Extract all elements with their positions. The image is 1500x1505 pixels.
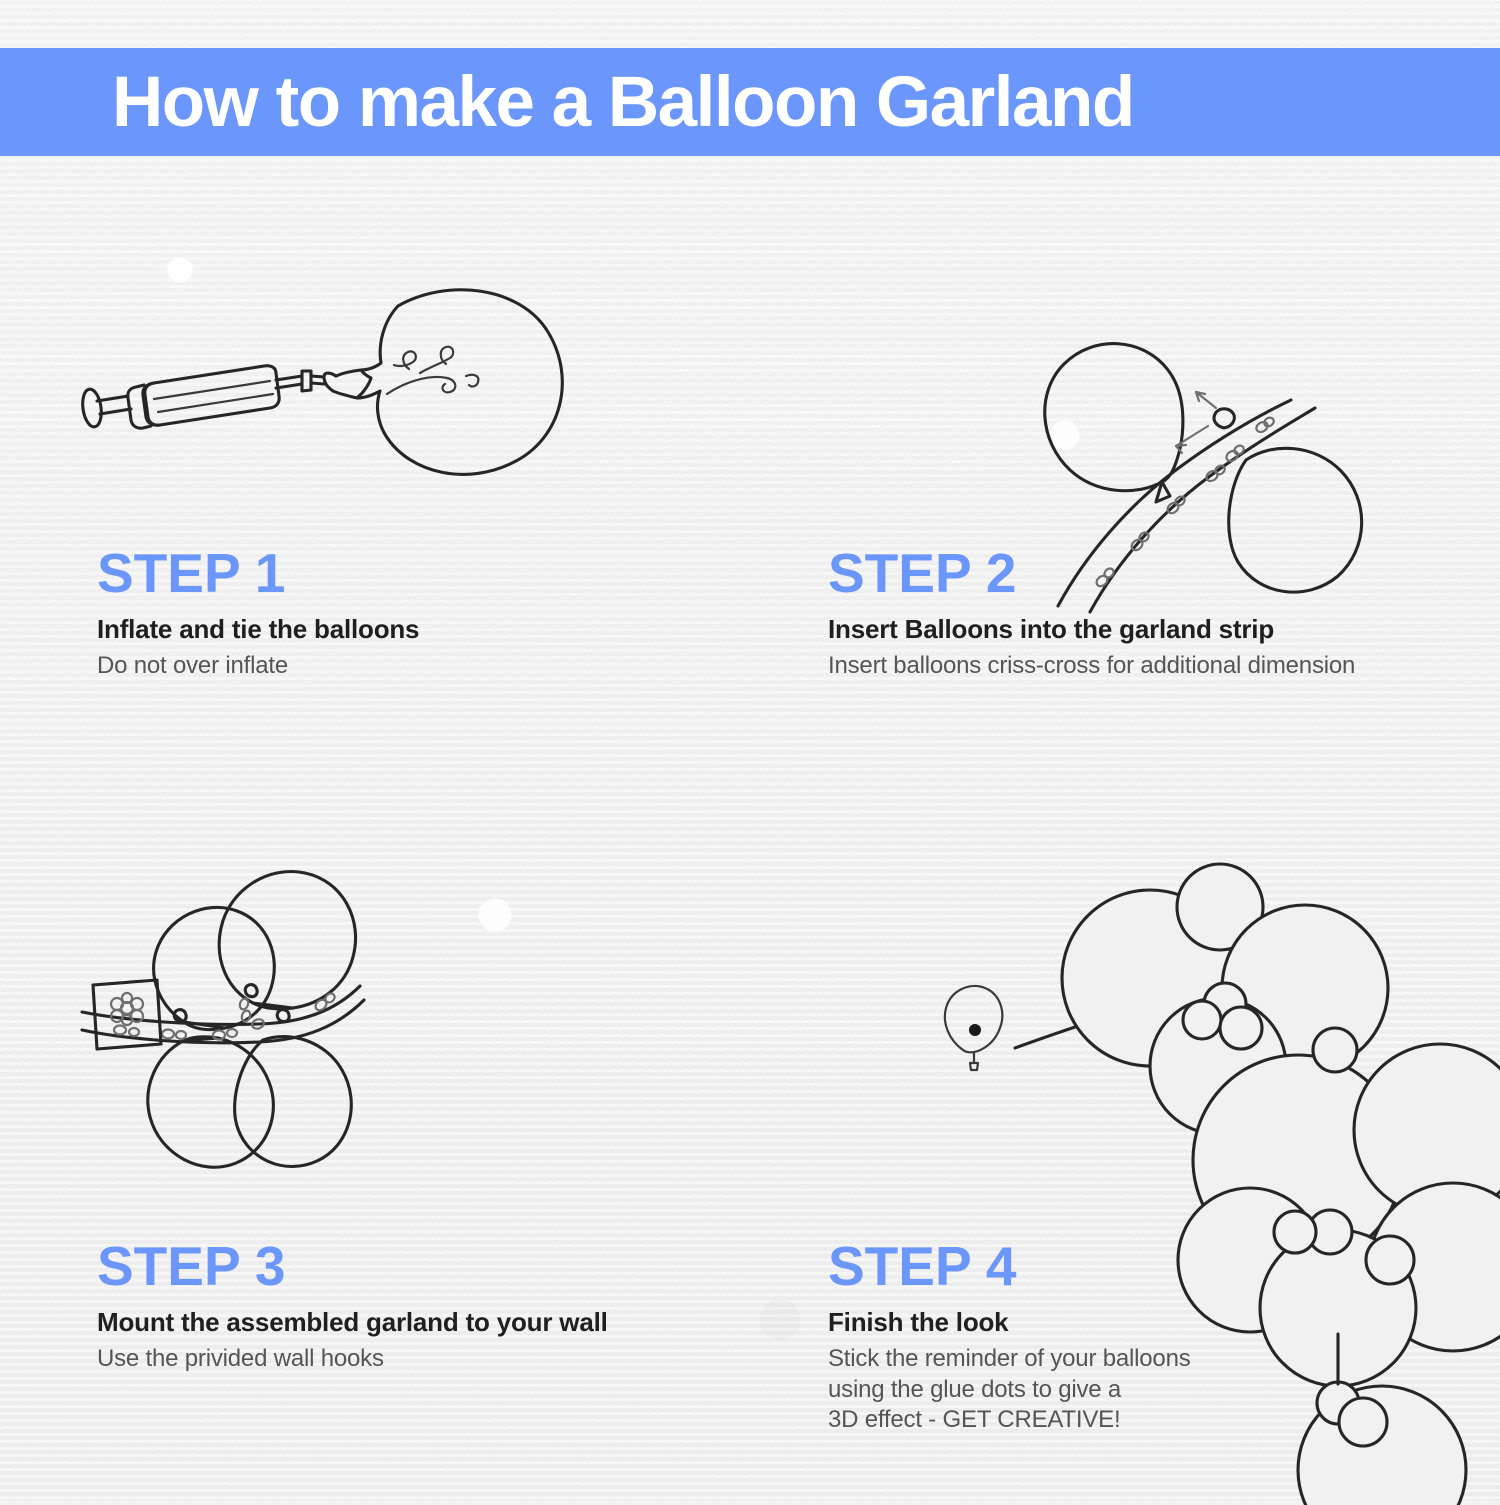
step-2-heading: Insert Balloons into the garland strip <box>828 615 1500 645</box>
step-4-text-block: STEP 4 Finish the look Stick the reminde… <box>828 1238 1258 1436</box>
step-3-label: STEP 3 <box>97 1238 797 1294</box>
step-1-label: STEP 1 <box>97 545 717 601</box>
balloon-pump-illustration <box>80 270 580 510</box>
step-2-text-block: STEP 2 Insert Balloons into the garland … <box>828 545 1500 682</box>
step-3-subtitle: Use the privided wall hooks <box>97 1344 797 1375</box>
wall-mount-illustration <box>78 858 388 1198</box>
step-4-label: STEP 4 <box>828 1238 1258 1294</box>
step-3-text-block: STEP 3 Mount the assembled garland to yo… <box>97 1238 797 1375</box>
step-2-label: STEP 2 <box>828 545 1500 601</box>
step-4-subtitle: Stick the reminder of your balloons usin… <box>828 1344 1258 1436</box>
step-4-subtitle-line-3: 3D effect - GET CREATIVE! <box>828 1405 1258 1436</box>
step-3-heading: Mount the assembled garland to your wall <box>97 1308 797 1338</box>
step-1-heading: Inflate and tie the balloons <box>97 615 717 645</box>
step-4-subtitle-line-2: using the glue dots to give a <box>828 1375 1258 1406</box>
step-4-heading: Finish the look <box>828 1308 1258 1338</box>
step-4-subtitle-line-1: Stick the reminder of your balloons <box>828 1344 1258 1375</box>
step-1-subtitle: Do not over inflate <box>97 651 717 682</box>
step-2-subtitle: Insert balloons criss-cross for addition… <box>828 651 1500 682</box>
page-title: How to make a Balloon Garland <box>0 62 1134 143</box>
header-banner: How to make a Balloon Garland <box>0 48 1500 156</box>
step-1-text-block: STEP 1 Inflate and tie the balloons Do n… <box>97 545 717 682</box>
